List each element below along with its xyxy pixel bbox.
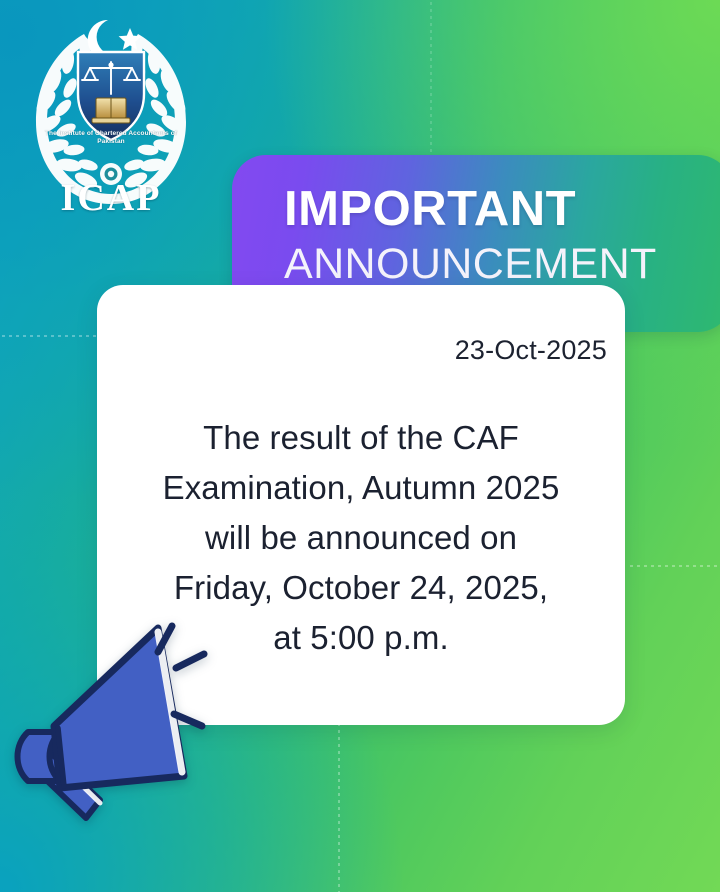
announcement-date: 23-Oct-2025	[455, 335, 607, 366]
icap-logo: The Institute of Chartered Accountants o…	[16, 8, 206, 228]
banner-subtitle: ANNOUNCEMENT	[284, 239, 686, 289]
shield-icon	[78, 52, 144, 140]
announcement-poster: The Institute of Chartered Accountants o…	[0, 0, 720, 892]
banner-title: IMPORTANT	[284, 181, 686, 237]
dotted-guide-left	[0, 335, 96, 337]
icap-emblem-caption: The Institute of Chartered Accountants o…	[36, 130, 186, 145]
dotted-guide-vertical-center	[338, 700, 340, 892]
icap-wordmark: ICAP	[16, 176, 206, 220]
dotted-guide-vertical-top	[430, 0, 432, 156]
megaphone-icon	[8, 604, 248, 854]
book-icon	[92, 98, 130, 123]
megaphone-cone	[54, 628, 184, 788]
dotted-guide-right	[628, 565, 720, 567]
